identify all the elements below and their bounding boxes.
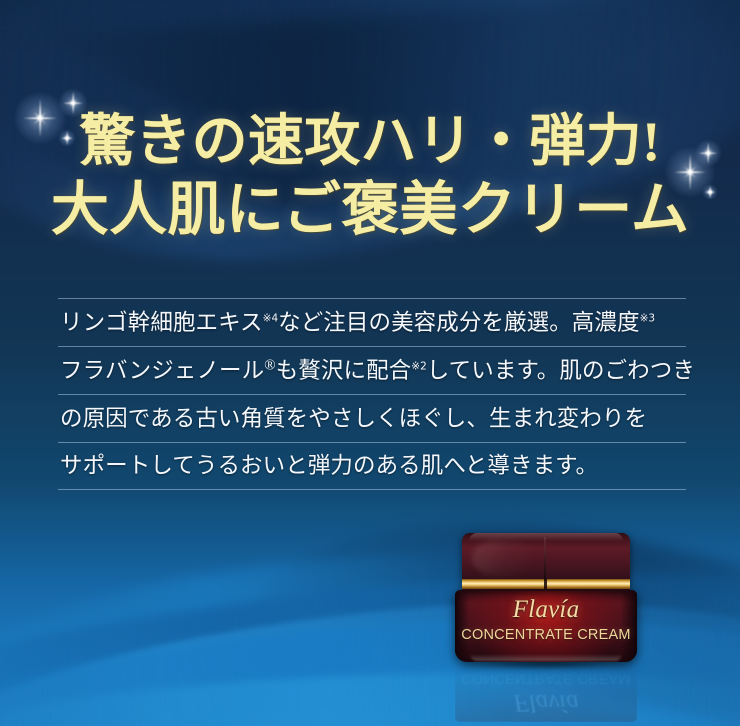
body-paragraph: リンゴ幹細胞エキス※4など注目の美容成分を厳選。高濃度※3 フラバンジェノール®… bbox=[58, 298, 686, 490]
footnote-marker-2: ※2 bbox=[411, 360, 426, 372]
headline-line-2: 大人肌にご褒美クリーム bbox=[0, 174, 740, 246]
body-line-3: の原因である古い角質をやさしくほぐし、生まれ変わりを bbox=[58, 394, 686, 442]
body-line-2: フラバンジェノール®も贅沢に配合※2しています。肌のごわつき bbox=[58, 346, 686, 394]
product-jar-lid bbox=[462, 533, 630, 591]
product-reflection-body: Flavía CONCENTRATE CREAM bbox=[455, 664, 637, 722]
footnote-marker-3: ※3 bbox=[640, 312, 655, 324]
sparkle-beam-horizontal bbox=[63, 102, 83, 104]
gold-band-seam bbox=[544, 579, 547, 589]
body-line-1: リンゴ幹細胞エキス※4など注目の美容成分を厳選。高濃度※3 bbox=[58, 298, 686, 346]
product-subtitle: CONCENTRATE CREAM bbox=[455, 625, 637, 645]
product-brand-name: Flavía bbox=[455, 596, 637, 624]
product-jar-body: Flavía CONCENTRATE CREAM bbox=[455, 590, 637, 662]
promo-banner: 驚きの速攻ハリ・弾力! 大人肌にご褒美クリーム リンゴ幹細胞エキス※4など注目の… bbox=[0, 0, 740, 726]
body-line-3-text: の原因である古い角質をやさしくほぐし、生まれ変わりを bbox=[58, 404, 686, 434]
body-line-2-text: フラバンジェノール®も贅沢に配合※2しています。肌のごわつき bbox=[58, 356, 686, 386]
product-image: Flavía CONCENTRATE CREAM Flavía CONCENTR… bbox=[455, 533, 637, 723]
sparkle-beam-diagonal-b bbox=[69, 99, 77, 107]
lid-sheen bbox=[472, 539, 532, 577]
headline: 驚きの速攻ハリ・弾力! 大人肌にご褒美クリーム bbox=[0, 108, 740, 246]
product-reflection-label: Flavía CONCENTRATE CREAM bbox=[455, 668, 637, 716]
product-reflection-subtitle: CONCENTRATE CREAM bbox=[455, 668, 637, 688]
body-line-4: サポートしてうるおいと弾力のある肌へと導きます。 bbox=[58, 442, 686, 490]
headline-line-1: 驚きの速攻ハリ・弾力! bbox=[0, 108, 740, 176]
body-line-1-text: リンゴ幹細胞エキス※4など注目の美容成分を厳選。高濃度※3 bbox=[58, 308, 686, 338]
registered-trademark-symbol: ® bbox=[264, 357, 276, 373]
product-reflection-brand: Flavía bbox=[455, 688, 637, 716]
footnote-marker-4: ※4 bbox=[263, 312, 278, 324]
product-label: Flavía CONCENTRATE CREAM bbox=[455, 596, 637, 645]
body-line-4-text: サポートしてうるおいと弾力のある肌へと導きます。 bbox=[58, 451, 686, 481]
jar-bottom-highlight bbox=[470, 654, 623, 661]
product-reflection: Flavía CONCENTRATE CREAM bbox=[455, 664, 637, 722]
sparkle-core bbox=[71, 101, 74, 104]
sparkle-beam-diagonal-a bbox=[69, 99, 77, 107]
